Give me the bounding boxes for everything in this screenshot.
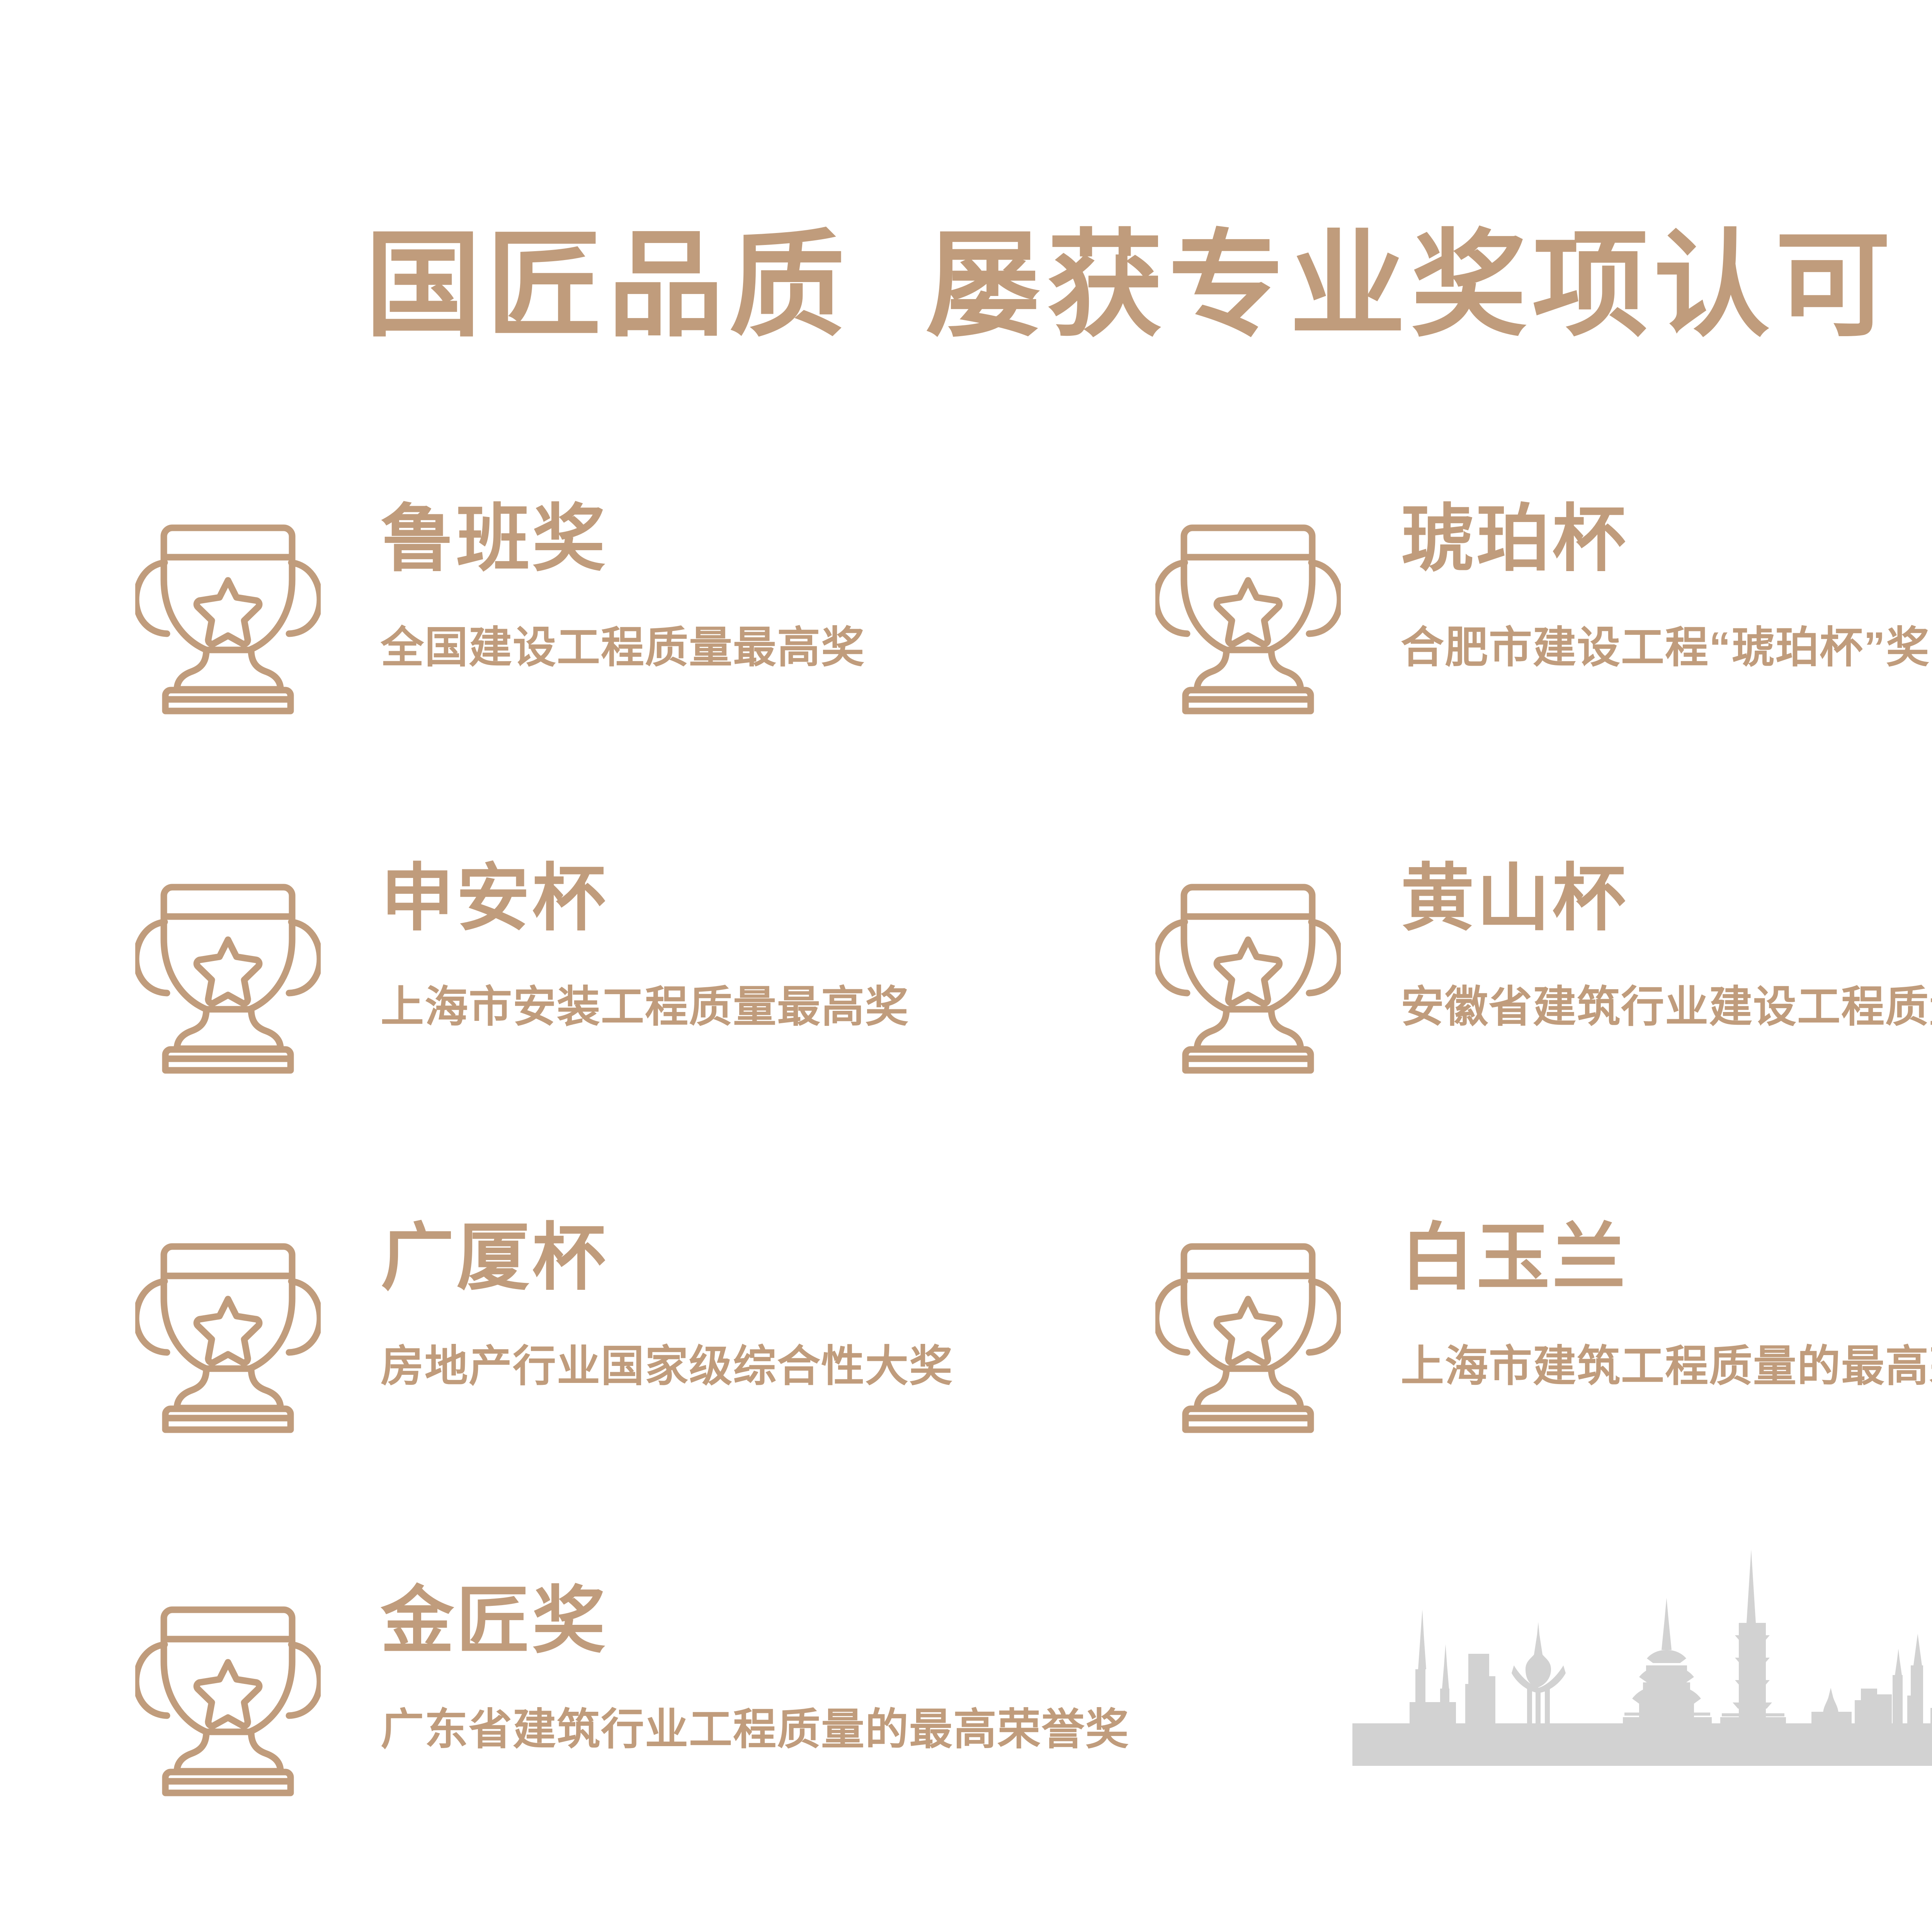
- award-name: 鲁班奖: [381, 502, 865, 576]
- award-name: 白玉兰: [1401, 1221, 1932, 1294]
- award-name: 申安杯: [381, 862, 909, 935]
- trophy-icon: [135, 498, 321, 715]
- award-item: 申安杯 上海市安装工程质量最高奖: [135, 858, 1256, 1090]
- award-item: 白玉兰 上海市建筑工程质量的最高荣誉奖: [1155, 1217, 1932, 1449]
- award-description: 合肥市建设工程“琥珀杯”奖(市优质工程): [1401, 626, 1932, 669]
- award-text: 金匠奖 广东省建筑行业工程质量的最高荣誉奖: [381, 1580, 1129, 1751]
- trophy-icon: [135, 858, 321, 1074]
- page-title: 国匠品质 屡获专业奖项认可: [365, 219, 1896, 352]
- award-description: 安徽省建筑行业建设工程质量最高荣誉奖: [1401, 985, 1932, 1029]
- city-skyline-silhouette: [1352, 1484, 1932, 1766]
- award-text: 黄山杯 安徽省建筑行业建设工程质量最高荣誉奖: [1401, 858, 1932, 1029]
- trophy-icon: [135, 1217, 321, 1434]
- award-description: 广东省建筑行业工程质量的最高荣誉奖: [381, 1708, 1129, 1751]
- trophy-icon: [1155, 498, 1341, 715]
- award-name: 黄山杯: [1401, 862, 1932, 935]
- award-item: 黄山杯 安徽省建筑行业建设工程质量最高荣誉奖: [1155, 858, 1932, 1090]
- trophy-icon: [1155, 1217, 1341, 1434]
- award-item: 鲁班奖 全国建设工程质量最高奖: [135, 498, 1256, 730]
- trophy-icon: [1155, 858, 1341, 1074]
- trophy-icon: [135, 1580, 321, 1797]
- award-item: 金匠奖 广东省建筑行业工程质量的最高荣誉奖: [135, 1580, 1256, 1812]
- award-item: 琥珀杯 合肥市建设工程“琥珀杯”奖(市优质工程): [1155, 498, 1932, 730]
- award-text: 申安杯 上海市安装工程质量最高奖: [381, 858, 909, 1029]
- award-description: 全国建设工程质量最高奖: [381, 626, 865, 669]
- award-name: 琥珀杯: [1401, 502, 1932, 576]
- award-text: 琥珀杯 合肥市建设工程“琥珀杯”奖(市优质工程): [1401, 498, 1932, 669]
- award-item: 广厦杯 房地产行业国家级综合性大奖: [135, 1217, 1256, 1449]
- award-text: 鲁班奖 全国建设工程质量最高奖: [381, 498, 865, 669]
- award-description: 上海市建筑工程质量的最高荣誉奖: [1401, 1345, 1932, 1388]
- award-name: 金匠奖: [381, 1584, 1129, 1658]
- award-name: 广厦杯: [381, 1221, 953, 1294]
- award-description: 房地产行业国家级综合性大奖: [381, 1345, 953, 1388]
- award-text: 广厦杯 房地产行业国家级综合性大奖: [381, 1217, 953, 1388]
- award-text: 白玉兰 上海市建筑工程质量的最高荣誉奖: [1401, 1217, 1932, 1388]
- award-description: 上海市安装工程质量最高奖: [381, 985, 909, 1029]
